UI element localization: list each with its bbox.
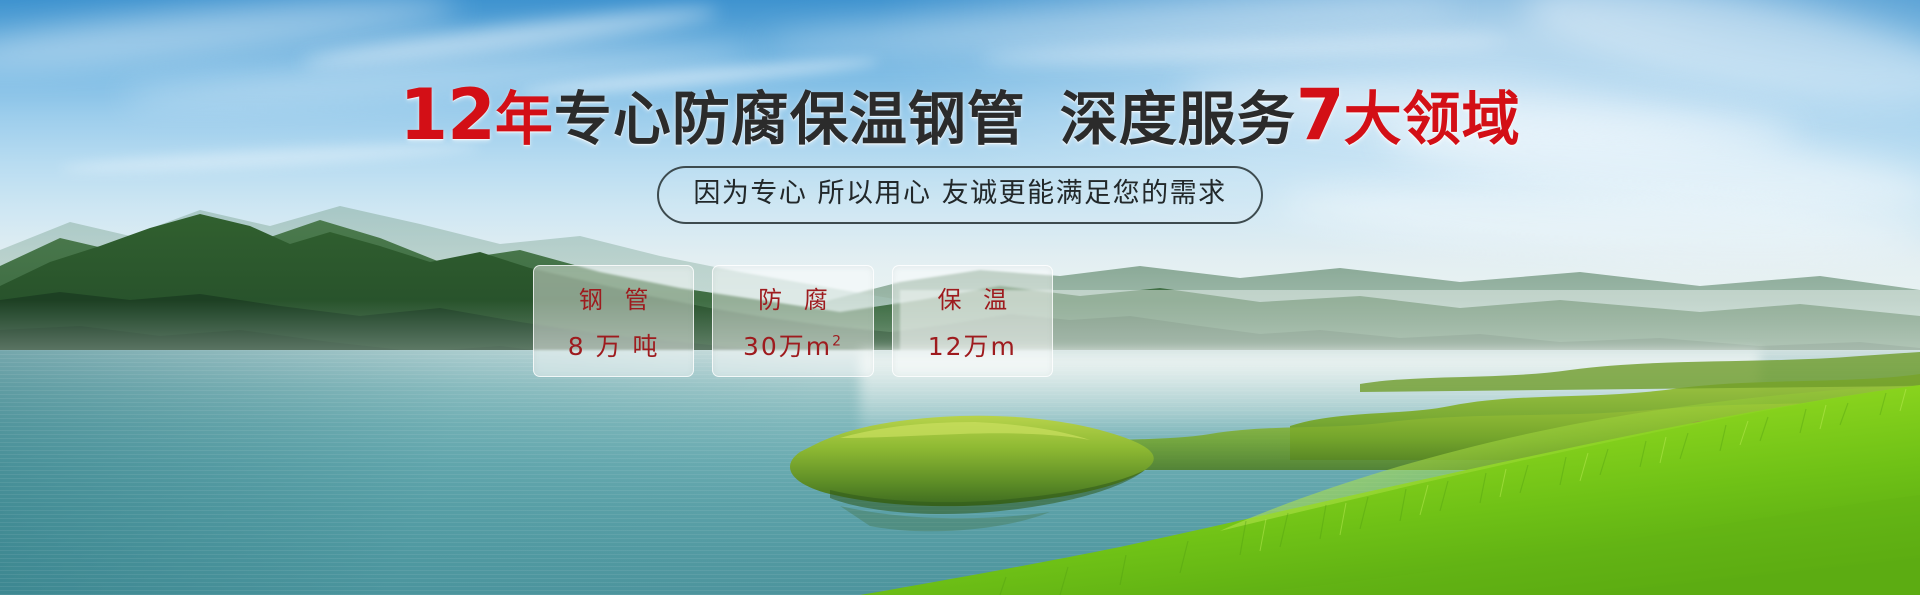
subtitle-pill: 因为专心 所以用心 友诚更能满足您的需求 bbox=[657, 166, 1262, 224]
stat-card[interactable]: 防 腐 30万m2 bbox=[712, 265, 873, 377]
stat-card-list: 钢 管 8 万 吨 防 腐 30万m2 保 温 12万m bbox=[533, 265, 1053, 375]
stat-card-value-superscript: 2 bbox=[832, 333, 843, 349]
headline-main-text: 专心防腐保温钢管 bbox=[554, 85, 1026, 153]
headline-service-text: 深度服务 bbox=[1060, 85, 1296, 153]
stat-card-value-text: 30万m bbox=[743, 332, 832, 361]
subtitle-container: 因为专心 所以用心 友诚更能满足您的需求 bbox=[0, 166, 1920, 224]
stat-card-title: 钢 管 bbox=[572, 280, 656, 315]
banner-content: 12年专心防腐保温钢管深度服务7大领域 因为专心 所以用心 友诚更能满足您的需求… bbox=[0, 0, 1920, 595]
stat-card[interactable]: 钢 管 8 万 吨 bbox=[533, 265, 694, 377]
headline: 12年专心防腐保温钢管深度服务7大领域 bbox=[0, 80, 1920, 150]
headline-fields-number: 7 bbox=[1296, 74, 1344, 156]
stat-card-title: 保 温 bbox=[931, 280, 1015, 315]
headline-years-unit: 年 bbox=[495, 85, 554, 153]
stat-card-value-text: 8 万 吨 bbox=[568, 332, 660, 361]
stat-card-value: 12万m bbox=[928, 327, 1017, 363]
headline-years-number: 12 bbox=[399, 74, 494, 156]
promo-banner: 12年专心防腐保温钢管深度服务7大领域 因为专心 所以用心 友诚更能满足您的需求… bbox=[0, 0, 1920, 595]
stat-card[interactable]: 保 温 12万m bbox=[892, 265, 1053, 377]
stat-card-value: 30万m2 bbox=[743, 327, 843, 363]
headline-fields-unit: 大领域 bbox=[1344, 85, 1521, 153]
stat-card-title: 防 腐 bbox=[751, 280, 835, 315]
stat-card-value-text: 12万m bbox=[928, 332, 1017, 361]
stat-card-value: 8 万 吨 bbox=[568, 327, 660, 363]
